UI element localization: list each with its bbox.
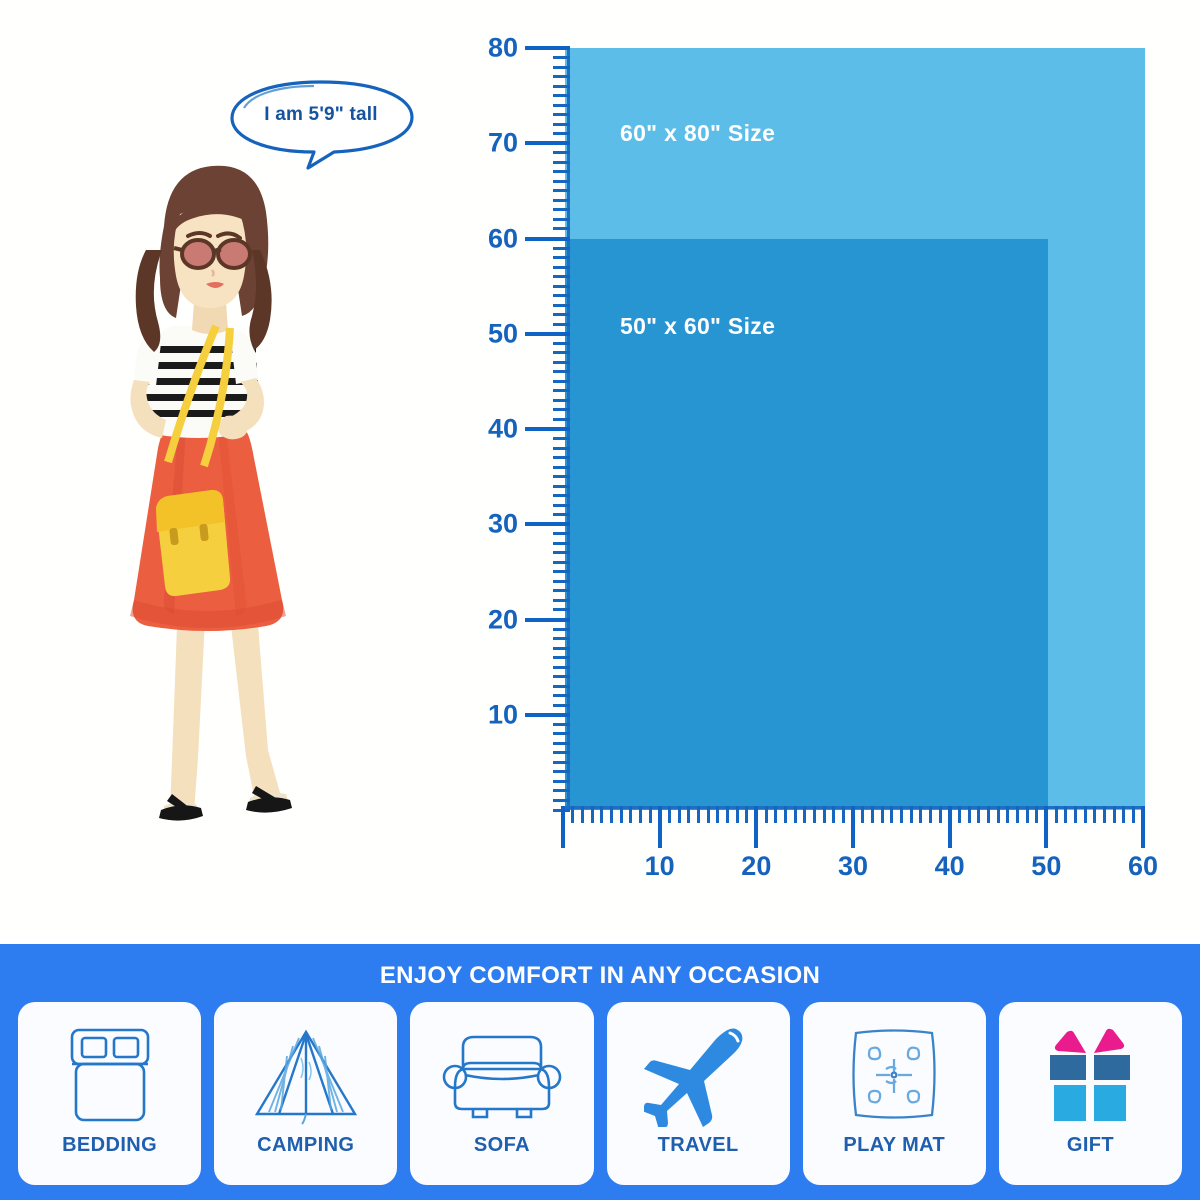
vertical-tick-minor bbox=[553, 647, 570, 650]
vertical-tick-minor bbox=[553, 732, 570, 735]
horizontal-tick-minor bbox=[649, 806, 652, 823]
vertical-axis-label: 20 bbox=[488, 604, 518, 635]
vertical-tick-minor bbox=[553, 75, 570, 78]
vertical-axis-label: 70 bbox=[488, 128, 518, 159]
vertical-axis-label: 60 bbox=[488, 223, 518, 254]
vertical-tick-minor bbox=[553, 408, 570, 411]
vertical-tick-minor bbox=[553, 532, 570, 535]
horizontal-tick-minor bbox=[987, 806, 990, 823]
occasion-card-sofa[interactable]: SOFA bbox=[410, 1002, 593, 1185]
woman-illustration bbox=[60, 130, 360, 830]
vertical-tick-minor bbox=[553, 675, 570, 678]
vertical-tick-minor bbox=[553, 227, 570, 230]
vertical-tick-minor bbox=[553, 694, 570, 697]
horizontal-tick-minor bbox=[910, 806, 913, 823]
vertical-tick-minor bbox=[553, 104, 570, 107]
horizontal-tick-minor bbox=[977, 806, 980, 823]
vertical-tick-minor bbox=[553, 218, 570, 221]
horizontal-tick-major bbox=[754, 806, 758, 848]
vertical-tick-minor bbox=[553, 180, 570, 183]
vertical-tick-minor bbox=[553, 637, 570, 640]
vertical-tick-minor bbox=[553, 151, 570, 154]
speech-bubble-text: I am 5'9" tall bbox=[222, 78, 420, 156]
horizontal-tick-minor bbox=[919, 806, 922, 823]
horizontal-axis-label: 50 bbox=[1031, 851, 1061, 882]
infographic-page: I am 5'9" tall 60" x 80" Size 50" x 60" … bbox=[0, 0, 1200, 1200]
horizontal-tick-minor bbox=[668, 806, 671, 823]
horizontal-tick-minor bbox=[794, 806, 797, 823]
vertical-tick-minor bbox=[553, 285, 570, 288]
occasion-card-gift[interactable]: GIFT bbox=[999, 1002, 1182, 1185]
vertical-tick-minor bbox=[553, 161, 570, 164]
vertical-tick-major bbox=[525, 522, 570, 526]
horizontal-tick-minor bbox=[842, 806, 845, 823]
horizontal-tick-minor bbox=[1064, 806, 1067, 823]
horizontal-tick-minor bbox=[871, 806, 874, 823]
horizontal-tick-minor bbox=[803, 806, 806, 823]
horizontal-tick-minor bbox=[707, 806, 710, 823]
horizontal-tick-minor bbox=[968, 806, 971, 823]
horizontal-tick-minor bbox=[716, 806, 719, 823]
horizontal-tick-minor bbox=[697, 806, 700, 823]
horizontal-tick-major bbox=[948, 806, 952, 848]
gift-icon bbox=[1038, 1016, 1142, 1134]
horizontal-tick-minor bbox=[1093, 806, 1096, 823]
vertical-tick-minor bbox=[553, 628, 570, 631]
vertical-tick-minor bbox=[553, 542, 570, 545]
horizontal-tick-minor bbox=[639, 806, 642, 823]
vertical-tick-minor bbox=[553, 447, 570, 450]
airplane-icon bbox=[644, 1016, 752, 1134]
vertical-tick-minor bbox=[553, 113, 570, 116]
vertical-tick-minor bbox=[553, 685, 570, 688]
horizontal-tick-minor bbox=[571, 806, 574, 823]
horizontal-tick-minor bbox=[620, 806, 623, 823]
occasion-card-camping[interactable]: CAMPING bbox=[214, 1002, 397, 1185]
occasion-label-camping: CAMPING bbox=[257, 1134, 354, 1157]
vertical-tick-minor bbox=[553, 608, 570, 611]
vertical-tick-minor bbox=[553, 247, 570, 250]
horizontal-tick-minor bbox=[939, 806, 942, 823]
vertical-tick-minor bbox=[553, 513, 570, 516]
vertical-tick-minor bbox=[553, 494, 570, 497]
horizontal-tick-minor bbox=[600, 806, 603, 823]
horizontal-tick-minor bbox=[610, 806, 613, 823]
vertical-ruler: 1020304050607080 bbox=[525, 20, 570, 830]
horizontal-tick-minor bbox=[1055, 806, 1058, 823]
horizontal-tick-minor bbox=[958, 806, 961, 823]
horizontal-tick-minor bbox=[629, 806, 632, 823]
horizontal-tick-major bbox=[1044, 806, 1048, 848]
vertical-tick-minor bbox=[553, 199, 570, 202]
vertical-tick-minor bbox=[553, 561, 570, 564]
horizontal-axis-label: 60 bbox=[1128, 851, 1158, 882]
vertical-tick-minor bbox=[553, 94, 570, 97]
horizontal-tick-minor bbox=[890, 806, 893, 823]
vertical-tick-minor bbox=[553, 456, 570, 459]
horizontal-axis-label: 20 bbox=[741, 851, 771, 882]
horizontal-tick-minor bbox=[784, 806, 787, 823]
occasions-title: ENJOY COMFORT IN ANY OCCASION bbox=[18, 962, 1182, 990]
vertical-tick-minor bbox=[553, 294, 570, 297]
vertical-tick-minor bbox=[553, 551, 570, 554]
horizontal-ruler-origin-tick bbox=[561, 806, 565, 848]
horizontal-tick-minor bbox=[1113, 806, 1116, 823]
vertical-tick-minor bbox=[553, 723, 570, 726]
size-label-50x60: 50" x 60" Size bbox=[620, 313, 775, 340]
vertical-tick-major bbox=[525, 46, 570, 50]
vertical-axis-label: 10 bbox=[488, 699, 518, 730]
vertical-tick-minor bbox=[553, 189, 570, 192]
horizontal-axis-label: 30 bbox=[838, 851, 868, 882]
horizontal-ruler: 102030405060 bbox=[525, 806, 1145, 906]
vertical-tick-minor bbox=[553, 313, 570, 316]
horizontal-tick-minor bbox=[1122, 806, 1125, 823]
sofa-icon bbox=[441, 1016, 563, 1134]
vertical-tick-minor bbox=[553, 266, 570, 269]
vertical-tick-major bbox=[525, 618, 570, 622]
vertical-tick-minor bbox=[553, 389, 570, 392]
vertical-tick-minor bbox=[553, 361, 570, 364]
cushion-icon bbox=[842, 1016, 946, 1134]
vertical-tick-minor bbox=[553, 208, 570, 211]
horizontal-tick-minor bbox=[929, 806, 932, 823]
horizontal-tick-minor bbox=[1006, 806, 1009, 823]
occasion-card-bedding[interactable]: BEDDING bbox=[18, 1002, 201, 1185]
vertical-tick-minor bbox=[553, 789, 570, 792]
horizontal-tick-major bbox=[851, 806, 855, 848]
speech-bubble: I am 5'9" tall bbox=[222, 78, 420, 170]
horizontal-tick-minor bbox=[774, 806, 777, 823]
vertical-tick-major bbox=[525, 713, 570, 717]
vertical-tick-minor bbox=[553, 485, 570, 488]
vertical-tick-minor bbox=[553, 437, 570, 440]
vertical-tick-minor bbox=[553, 751, 570, 754]
vertical-tick-minor bbox=[553, 123, 570, 126]
horizontal-axis-label: 40 bbox=[935, 851, 965, 882]
vertical-tick-minor bbox=[553, 761, 570, 764]
horizontal-tick-minor bbox=[1035, 806, 1038, 823]
size-plot: 60" x 80" Size 50" x 60" Size 1020304050… bbox=[440, 20, 1180, 900]
horizontal-tick-minor bbox=[581, 806, 584, 823]
vertical-tick-minor bbox=[553, 780, 570, 783]
occasion-label-gift: GIFT bbox=[1067, 1134, 1114, 1157]
vertical-tick-minor bbox=[553, 370, 570, 373]
vertical-tick-minor bbox=[553, 599, 570, 602]
horizontal-tick-minor bbox=[678, 806, 681, 823]
vertical-axis-label: 30 bbox=[488, 509, 518, 540]
vertical-tick-minor bbox=[553, 56, 570, 59]
occasion-label-sofa: SOFA bbox=[474, 1134, 530, 1157]
tent-icon bbox=[249, 1016, 363, 1134]
vertical-tick-minor bbox=[553, 656, 570, 659]
occasion-label-travel: TRAVEL bbox=[658, 1134, 739, 1157]
vertical-tick-minor bbox=[553, 399, 570, 402]
horizontal-tick-minor bbox=[745, 806, 748, 823]
vertical-tick-minor bbox=[553, 799, 570, 802]
occasions-banner: ENJOY COMFORT IN ANY OCCASION BEDDING bbox=[0, 938, 1200, 1200]
horizontal-tick-minor bbox=[1026, 806, 1029, 823]
horizontal-tick-minor bbox=[1084, 806, 1087, 823]
occasion-card-travel[interactable]: TRAVEL bbox=[607, 1002, 790, 1185]
vertical-tick-minor bbox=[553, 770, 570, 773]
vertical-tick-minor bbox=[553, 351, 570, 354]
horizontal-tick-minor bbox=[823, 806, 826, 823]
vertical-tick-minor bbox=[553, 66, 570, 69]
horizontal-tick-minor bbox=[881, 806, 884, 823]
horizontal-tick-minor bbox=[1132, 806, 1135, 823]
horizontal-tick-minor bbox=[1103, 806, 1106, 823]
vertical-tick-minor bbox=[553, 742, 570, 745]
horizontal-tick-minor bbox=[1016, 806, 1019, 823]
vertical-tick-major bbox=[525, 332, 570, 336]
horizontal-tick-minor bbox=[726, 806, 729, 823]
size-chart-section: I am 5'9" tall 60" x 80" Size 50" x 60" … bbox=[0, 0, 1200, 935]
size-label-60x80: 60" x 80" Size bbox=[620, 120, 775, 147]
horizontal-tick-minor bbox=[861, 806, 864, 823]
vertical-tick-minor bbox=[553, 342, 570, 345]
horizontal-tick-minor bbox=[813, 806, 816, 823]
vertical-tick-minor bbox=[553, 170, 570, 173]
vertical-tick-major bbox=[525, 141, 570, 145]
vertical-tick-minor bbox=[553, 85, 570, 88]
vertical-tick-major bbox=[525, 237, 570, 241]
occasion-label-bedding: BEDDING bbox=[62, 1134, 157, 1157]
vertical-tick-minor bbox=[553, 275, 570, 278]
vertical-tick-minor bbox=[553, 580, 570, 583]
vertical-tick-minor bbox=[553, 475, 570, 478]
vertical-tick-minor bbox=[553, 132, 570, 135]
horizontal-tick-minor bbox=[687, 806, 690, 823]
vertical-tick-minor bbox=[553, 589, 570, 592]
vertical-tick-minor bbox=[553, 466, 570, 469]
vertical-axis-label: 40 bbox=[488, 414, 518, 445]
occasion-card-list: BEDDING bbox=[18, 1002, 1182, 1185]
bed-icon bbox=[58, 1016, 162, 1134]
vertical-tick-minor bbox=[553, 323, 570, 326]
occasion-card-play-mat[interactable]: PLAY MAT bbox=[803, 1002, 986, 1185]
vertical-tick-minor bbox=[553, 380, 570, 383]
occasion-label-play-mat: PLAY MAT bbox=[843, 1134, 945, 1157]
vertical-tick-minor bbox=[553, 704, 570, 707]
vertical-tick-minor bbox=[553, 666, 570, 669]
vertical-axis-label: 80 bbox=[488, 33, 518, 64]
vertical-axis-label: 50 bbox=[488, 318, 518, 349]
horizontal-tick-minor bbox=[736, 806, 739, 823]
vertical-tick-minor bbox=[553, 304, 570, 307]
horizontal-tick-minor bbox=[997, 806, 1000, 823]
vertical-tick-minor bbox=[553, 256, 570, 259]
vertical-tick-minor bbox=[553, 504, 570, 507]
horizontal-tick-minor bbox=[832, 806, 835, 823]
horizontal-tick-minor bbox=[1074, 806, 1077, 823]
horizontal-axis-label: 10 bbox=[645, 851, 675, 882]
horizontal-tick-minor bbox=[900, 806, 903, 823]
horizontal-tick-minor bbox=[765, 806, 768, 823]
vertical-tick-major bbox=[525, 427, 570, 431]
horizontal-tick-major bbox=[658, 806, 662, 848]
vertical-tick-minor bbox=[553, 570, 570, 573]
vertical-tick-minor bbox=[553, 418, 570, 421]
horizontal-tick-major bbox=[1141, 806, 1145, 848]
horizontal-tick-minor bbox=[591, 806, 594, 823]
